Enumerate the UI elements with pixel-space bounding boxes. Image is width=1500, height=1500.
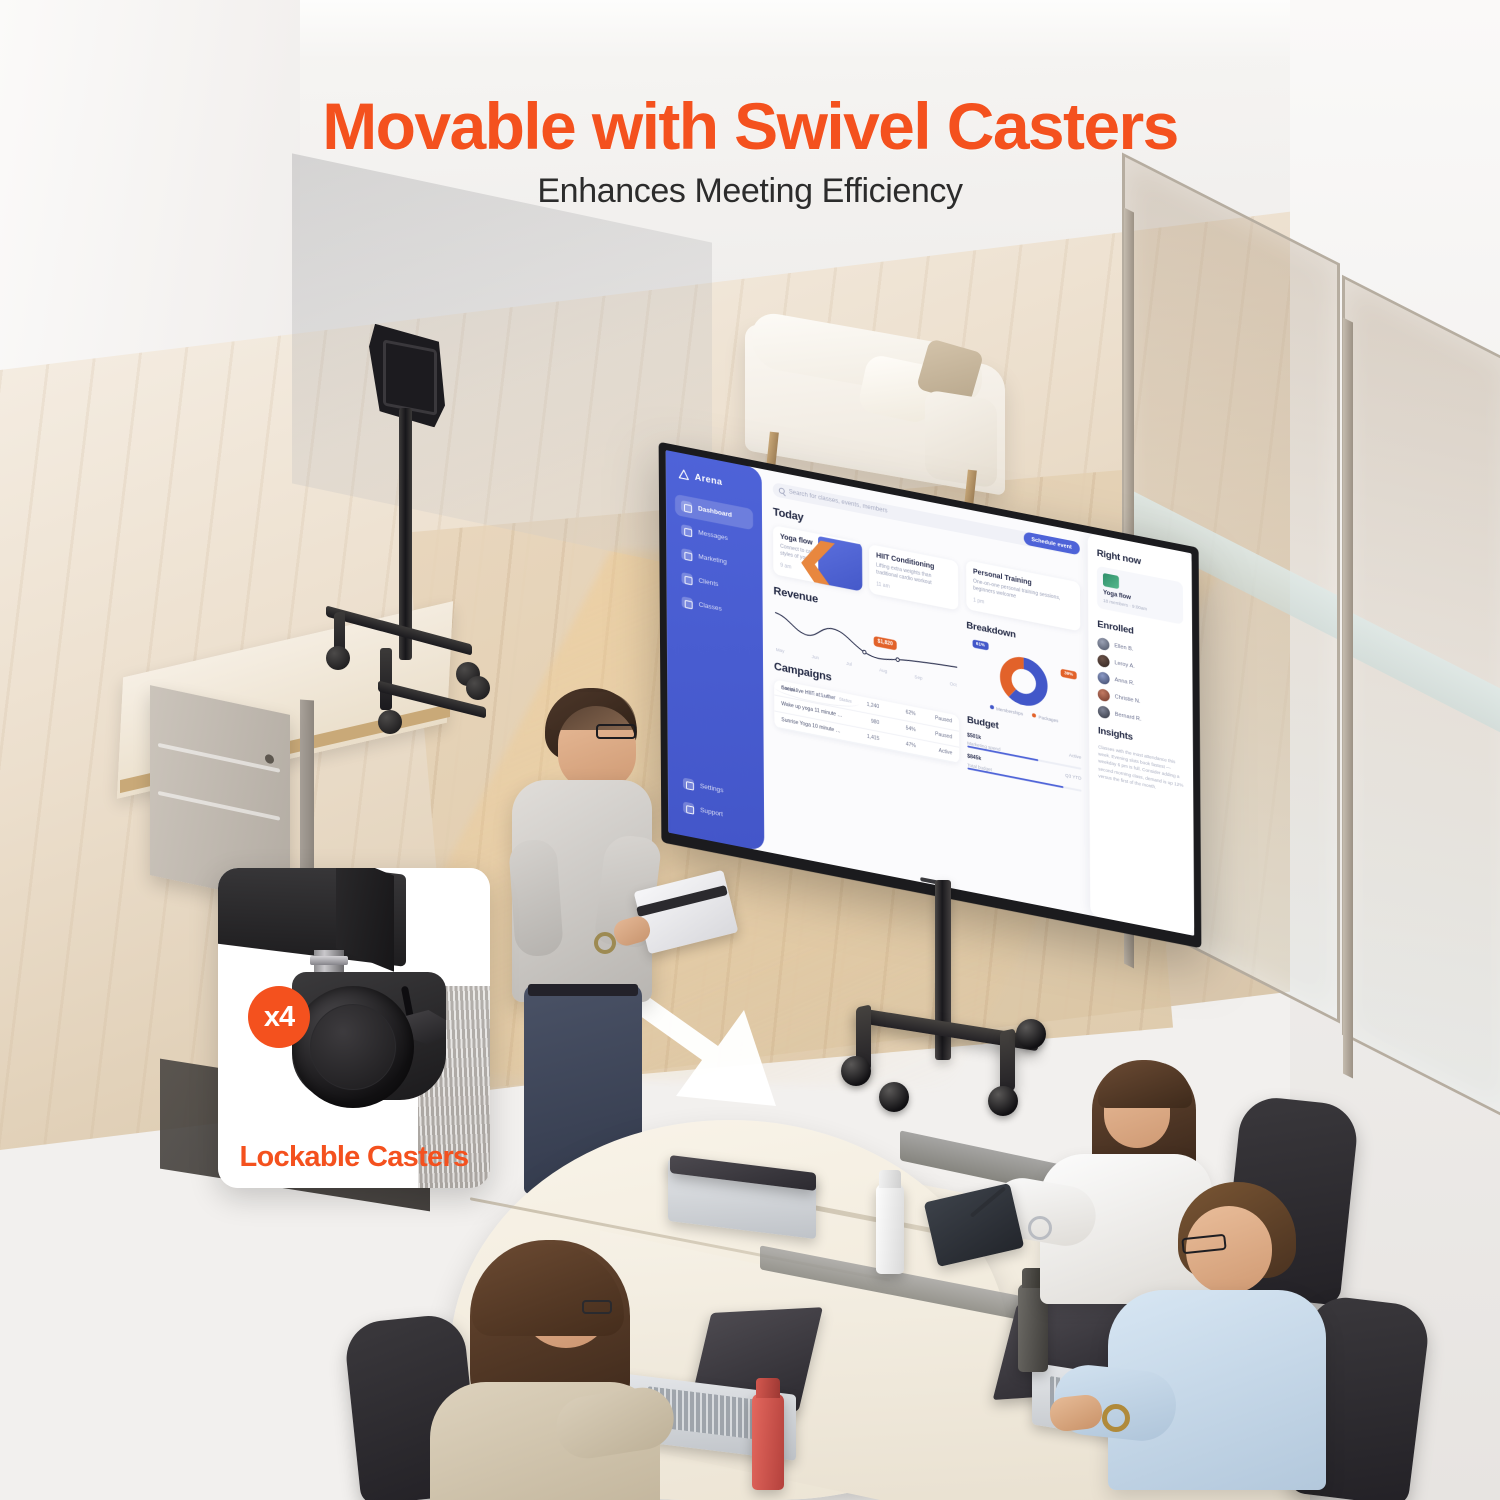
budget-amount: $501k <box>967 732 981 741</box>
avatar <box>1098 704 1110 718</box>
col-sent: Sent <box>805 689 815 696</box>
column-today-revenue: Today Yoga flow Connect to calm with flo… <box>773 506 959 774</box>
insights-body: Classes with the most attendance this we… <box>1098 743 1184 797</box>
cell-opened: 47% <box>883 737 915 749</box>
ghost-caster <box>326 646 350 670</box>
caster-wheel <box>879 1082 909 1112</box>
nav-label: Clients <box>699 578 719 589</box>
class-card-yoga[interactable]: Yoga flow Connect to calm with flowing s… <box>773 525 862 591</box>
search-placeholder: Search for classes, events, members <box>789 489 888 514</box>
donut-chart <box>997 649 1051 714</box>
lifebuoy-icon <box>683 801 694 814</box>
nav-label: Classes <box>699 602 722 614</box>
glass-pane-2 <box>1342 275 1500 1122</box>
bottle-cap <box>756 1378 780 1398</box>
col-campaign: Campaign <box>781 685 801 694</box>
segment-label-packages: 39% <box>1061 668 1077 679</box>
sofa-armrest <box>925 389 997 488</box>
avatar <box>1097 636 1109 650</box>
x-tick: Jul <box>846 660 852 666</box>
cell-opened: 54% <box>883 721 915 733</box>
cell-sent: 1,415 <box>847 730 879 742</box>
water-bottle-red <box>752 1394 784 1490</box>
x-tick: Aug <box>879 667 887 674</box>
ghost-pole <box>399 408 412 660</box>
right-rail: Right now Yoga flow 18 members · 9:00am … <box>1088 533 1195 936</box>
budget-meta: Q3 YTD <box>1065 773 1081 782</box>
desk-leg <box>300 700 314 871</box>
folder-icon <box>681 572 692 585</box>
ghost-caster <box>466 676 490 700</box>
brand: Arena <box>675 467 753 494</box>
caster-wheel <box>988 1086 1018 1116</box>
budget-amount: $845k <box>967 754 981 763</box>
page-title: Movable with Swivel Casters <box>0 88 1500 164</box>
water-bottle-white <box>876 1184 904 1274</box>
megaphone-icon <box>681 548 692 561</box>
breakdown-donut: 61% 39% <box>966 638 1081 723</box>
caster-hub <box>310 1004 396 1090</box>
caster-stem-nut <box>310 956 348 965</box>
gear-icon <box>683 777 694 790</box>
search-icon <box>779 487 785 494</box>
avatar <box>1098 670 1110 684</box>
caster-wheel <box>1016 1019 1046 1049</box>
cell-status: Paused <box>920 728 952 740</box>
belt <box>528 984 638 996</box>
cell-opened: 62% <box>883 705 915 717</box>
x-tick: Sep <box>914 673 922 680</box>
mullion <box>1343 317 1353 1078</box>
schedule-event-button[interactable]: Schedule event <box>1023 531 1079 555</box>
office-scene-photo: Arena Dashboard Messages Marketing <box>0 0 1500 1500</box>
cabinet-lock <box>265 754 274 765</box>
x-tick: Oct <box>950 680 957 686</box>
enrolled-list: Ellen B. Leroy A. Anna R. <box>1097 636 1184 733</box>
class-card-hiit[interactable]: HIIT Conditioning Lifting extra weights … <box>869 544 958 610</box>
wristwatch <box>594 932 616 954</box>
nav-label: Settings <box>700 783 724 795</box>
card-artwork <box>818 536 862 591</box>
cabinet-drawer <box>158 743 280 773</box>
compass-icon <box>682 596 693 609</box>
left-arm <box>508 838 564 957</box>
quantity-badge: x4 <box>248 986 310 1048</box>
budget-meta: Active <box>1069 752 1081 760</box>
member-name: Christie N. <box>1115 694 1141 705</box>
dashboard-sidebar: Arena Dashboard Messages Marketing <box>666 450 765 851</box>
member-name: Leroy A. <box>1114 660 1134 670</box>
cell-sent: 980 <box>847 714 879 726</box>
member-name: Anna R. <box>1115 677 1135 687</box>
wristwatch <box>1102 1404 1130 1432</box>
cabinet-drawer <box>158 791 280 821</box>
class-thumbnail <box>1103 573 1119 589</box>
x-tick: Jun <box>812 653 819 659</box>
nav-label: Dashboard <box>698 505 732 519</box>
avatar <box>1097 653 1109 667</box>
segment-label-memberships: 61% <box>972 639 988 650</box>
cell-status: Paused <box>920 712 952 724</box>
inset-label: Lockable Casters <box>218 1141 490 1174</box>
nav-label: Support <box>700 807 723 818</box>
right-now-card[interactable]: Yoga flow 18 members · 9:00am <box>1097 566 1183 624</box>
brand-name: Arena <box>695 472 723 487</box>
frosted-band <box>1345 609 1500 737</box>
sidebar-spacer <box>676 614 755 787</box>
glasses <box>582 1300 612 1314</box>
grid-icon <box>681 500 692 513</box>
member-name: Ellen B. <box>1114 643 1133 653</box>
cell-status: Active <box>920 744 952 756</box>
ghost-base-bar <box>380 648 392 710</box>
nav-label: Messages <box>698 529 728 542</box>
mail-icon <box>681 524 692 537</box>
smartwatch <box>1028 1216 1052 1240</box>
triangle-logo-icon <box>678 467 690 481</box>
ghost-caster <box>378 710 402 734</box>
glasses <box>596 724 636 739</box>
page-subtitle: Enhances Meeting Efficiency <box>0 172 1500 211</box>
col-opened: Opened <box>819 692 835 700</box>
member-name: Bernard R. <box>1115 711 1142 722</box>
bottle-cap <box>879 1170 901 1188</box>
col-status: Status <box>839 696 852 704</box>
x-tick: May <box>776 646 785 653</box>
base-leg-right <box>1000 1028 1015 1093</box>
class-card-personal-training[interactable]: Personal Training One-on-one personal tr… <box>966 560 1080 631</box>
column-breakdown-budget: Schedule event Personal Training One-on-… <box>966 544 1082 798</box>
avatar <box>1098 687 1110 701</box>
lockable-casters-inset-card: x4 Lockable Casters <box>218 868 490 1188</box>
nav-label: Marketing <box>698 553 727 566</box>
